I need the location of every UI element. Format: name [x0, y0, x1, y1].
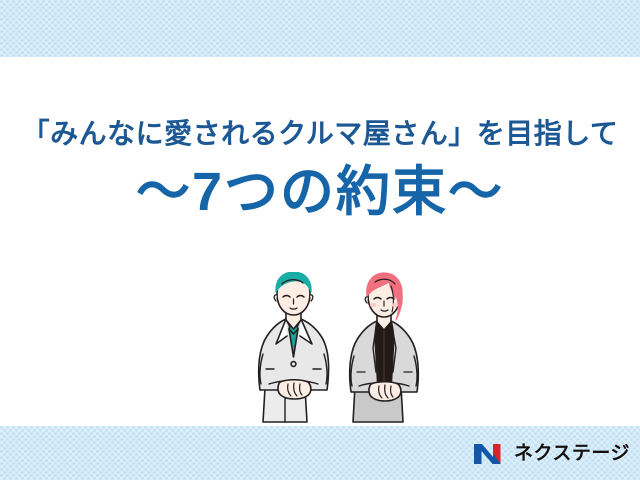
male-staff-figure [259, 272, 329, 422]
two-bowing-staff-illustration [235, 272, 425, 432]
female-staff-figure [350, 273, 419, 422]
brand-logo: ネクステージ [473, 437, 630, 469]
brand-name-label: ネクステージ [514, 444, 630, 463]
staff-illustration-svg [235, 272, 425, 432]
page-subtitle: 〜7つの約束〜 [0, 164, 640, 221]
promise-banner: 「みんなに愛されるクルマ屋さん」を目指して 〜7つの約束〜 [0, 0, 640, 480]
page-title: 「みんなに愛されるクルマ屋さん」を目指して [0, 118, 640, 150]
nextage-n-mark-icon [473, 440, 507, 466]
polka-dot-band-top [0, 0, 640, 57]
copy-block: 「みんなに愛されるクルマ屋さん」を目指して 〜7つの約束〜 [0, 118, 640, 221]
